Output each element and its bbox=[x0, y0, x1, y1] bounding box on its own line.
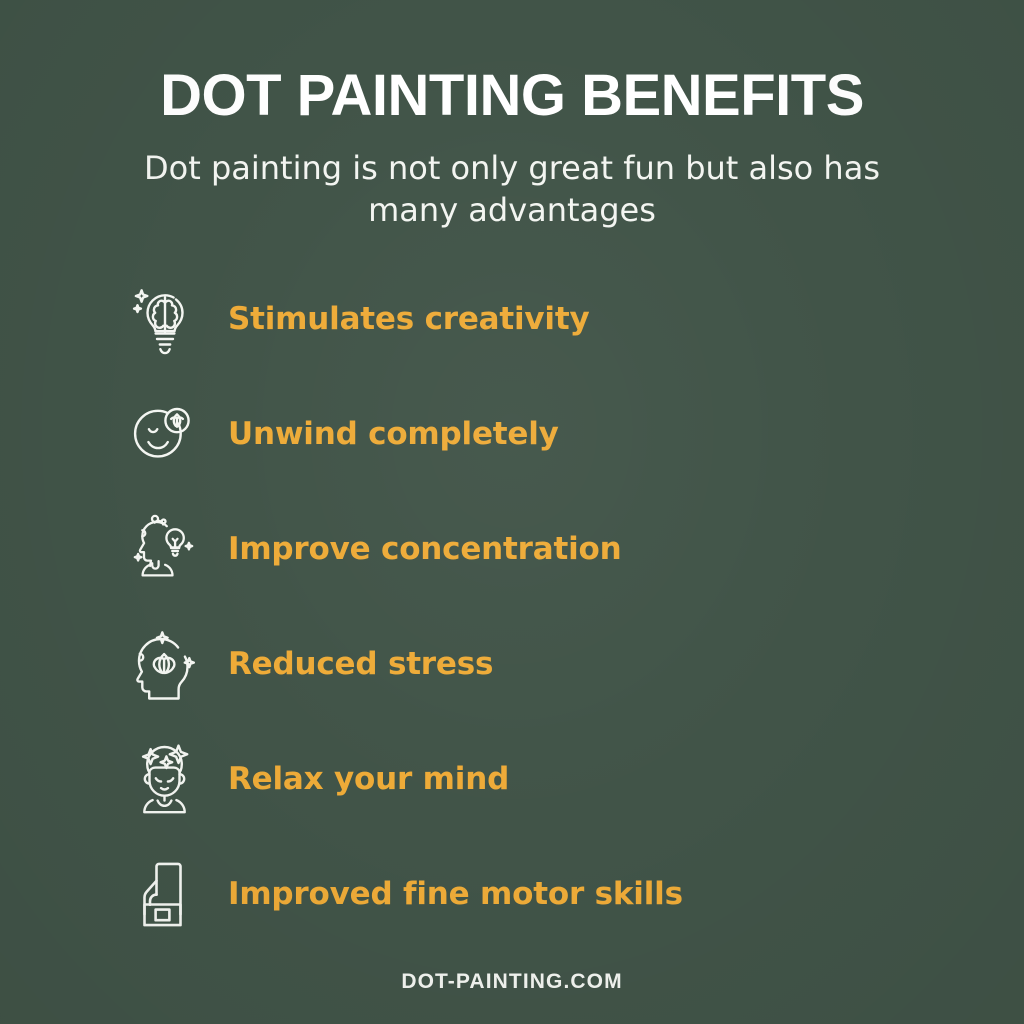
head-profile-lightbulb-icon bbox=[132, 511, 198, 587]
brain-lightbulb-icon bbox=[132, 281, 198, 357]
calm-face-sparkles-icon bbox=[132, 741, 198, 817]
list-item: Improved fine motor skills bbox=[132, 847, 1024, 941]
benefits-list: Stimulates creativity Unwind completely bbox=[0, 272, 1024, 941]
benefit-label: Relax your mind bbox=[228, 761, 509, 797]
hand-holding-block-icon bbox=[132, 856, 198, 932]
list-item: Reduced stress bbox=[132, 617, 1024, 711]
benefit-label: Unwind completely bbox=[228, 416, 559, 452]
list-item: Stimulates creativity bbox=[132, 272, 1024, 366]
benefit-label: Improved fine motor skills bbox=[228, 876, 683, 912]
website-url: DOT-PAINTING.COM bbox=[401, 970, 622, 993]
head-lotus-icon bbox=[132, 626, 198, 702]
page-subtitle: Dot painting is not only great fun but a… bbox=[142, 147, 882, 231]
smiling-face-flower-icon bbox=[132, 396, 198, 472]
list-item: Unwind completely bbox=[132, 387, 1024, 481]
benefit-label: Reduced stress bbox=[228, 646, 493, 682]
list-item: Improve concentration bbox=[132, 502, 1024, 596]
benefit-label: Stimulates creativity bbox=[228, 301, 590, 337]
benefit-label: Improve concentration bbox=[228, 531, 622, 567]
poster-header: DOT PAINTING BENEFITS Dot painting is no… bbox=[0, 66, 1024, 232]
poster-canvas: DOT PAINTING BENEFITS Dot painting is no… bbox=[0, 0, 1024, 1024]
list-item: Relax your mind bbox=[132, 732, 1024, 826]
page-title: DOT PAINTING BENEFITS bbox=[60, 66, 964, 125]
poster-footer: DOT-PAINTING.COM bbox=[0, 970, 1024, 994]
